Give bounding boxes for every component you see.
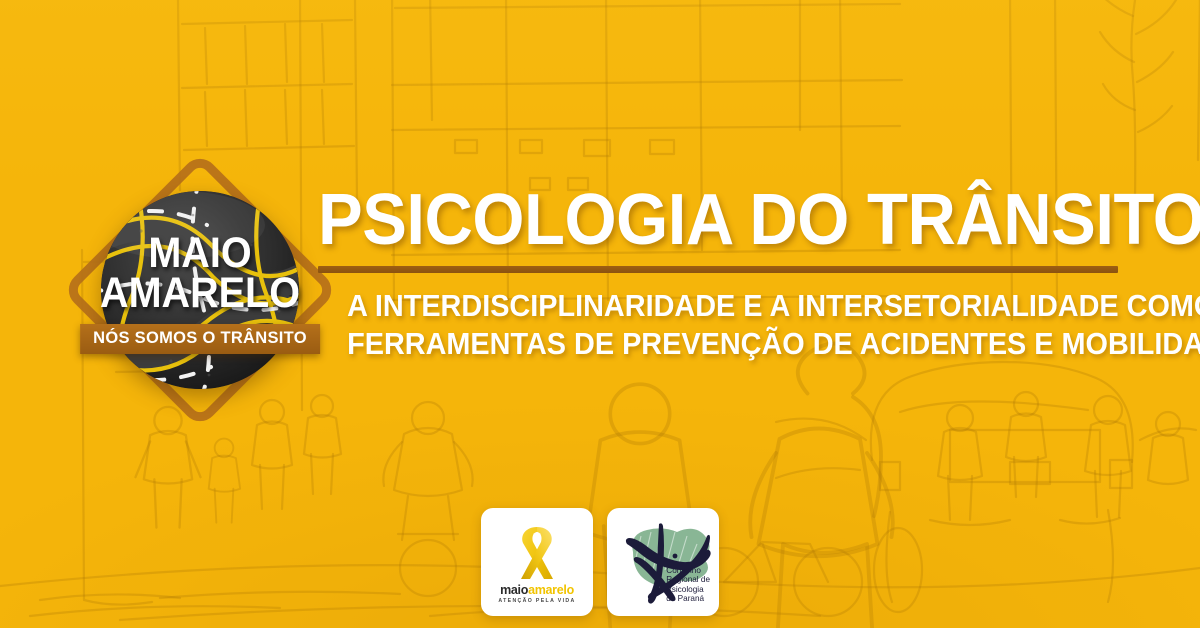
crp-parana-logo-card: Conselho Regional de Psicologia do Paran… — [607, 508, 719, 616]
wordmark-maio: maio — [500, 583, 528, 597]
crp-name-line-4: do Paraná — [666, 594, 710, 604]
page-title: PSICOLOGIA DO TRÂNSITO: — [318, 186, 1092, 254]
seal-wordmark: MAIO AMARELO — [60, 234, 340, 313]
title-divider-rule — [318, 266, 1118, 273]
maio-amarelo-logo-card: maioamarelo ATENÇÃO PELA VIDA — [481, 508, 593, 616]
crp-name-line-2: Regional de — [666, 575, 710, 585]
maio-amarelo-wordmark: maioamarelo — [500, 584, 574, 597]
page-subtitle: A INTERDISCIPLINARIDADE E A INTERSETORIA… — [347, 287, 1121, 363]
title-block: PSICOLOGIA DO TRÂNSITO: A INTERDISCIPLIN… — [318, 186, 1150, 363]
maio-amarelo-seal: MAIO AMARELO NÓS SOMOS O TRÂNSITO — [60, 150, 340, 430]
crp-name-text: Conselho Regional de Psicologia do Paran… — [666, 566, 710, 604]
crp-name-line-1: Conselho — [666, 566, 710, 576]
crp-name-line-3: Psicologia — [666, 585, 710, 595]
maio-amarelo-tagline: ATENÇÃO PELA VIDA — [498, 598, 575, 604]
seal-tagline-ribbon: NÓS SOMOS O TRÂNSITO — [80, 324, 320, 354]
campaign-banner: MAIO AMARELO NÓS SOMOS O TRÂNSITO PSICOL… — [0, 0, 1200, 628]
wordmark-amarelo: amarelo — [528, 583, 574, 597]
crp-logo-mark: Conselho Regional de Psicologia do Paran… — [615, 516, 711, 608]
awareness-ribbon-icon — [510, 521, 564, 581]
seal-line-2: AMARELO — [71, 274, 329, 314]
logo-row: maioamarelo ATENÇÃO PELA VIDA — [0, 508, 1200, 616]
subtitle-line-2: FERRAMENTAS DE PREVENÇÃO DE ACIDENTES E … — [347, 325, 1121, 363]
subtitle-line-1: A INTERDISCIPLINARIDADE E A INTERSETORIA… — [347, 287, 1121, 325]
